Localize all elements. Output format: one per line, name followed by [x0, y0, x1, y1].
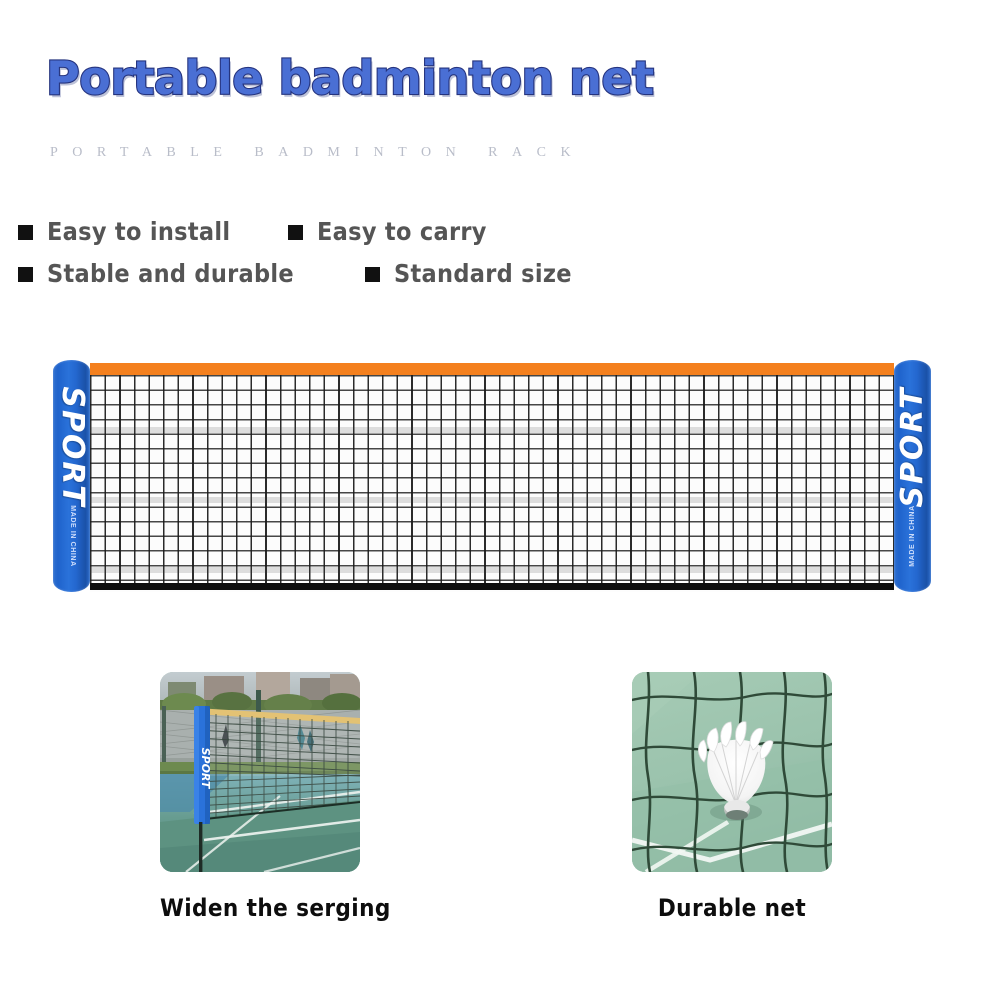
square-bullet-icon: [18, 225, 33, 240]
net-post-origin-label: MADE IN CHINA: [68, 505, 76, 566]
feature-photo-cards: SPORT Widen the serging: [0, 672, 1001, 952]
feature-label: Easy to carry: [317, 218, 487, 246]
photo-card-caption: Widen the serging: [160, 894, 360, 922]
badminton-net-illustration: SPORT MADE IN CHINA SPORT MADE IN CHINA: [53, 360, 931, 592]
outdoor-court-net-photo: SPORT: [160, 672, 360, 872]
feature-item-easy-to-carry: Easy to carry: [288, 218, 487, 246]
feature-label: Easy to install: [47, 218, 230, 246]
net-post-brand-label: SPORT: [898, 386, 928, 507]
photo-card-widen-the-serging: SPORT Widen the serging: [160, 672, 360, 922]
durable-net-shuttlecock-photo: [632, 672, 832, 872]
photo-card-caption: Durable net: [632, 894, 832, 922]
net-post-brand-label: SPORT: [57, 386, 87, 507]
square-bullet-icon: [365, 267, 380, 282]
square-bullet-icon: [18, 267, 33, 282]
net-bottom-band: [90, 583, 894, 590]
svg-text:SPORT: SPORT: [199, 748, 212, 790]
feature-item-easy-to-install: Easy to install: [18, 218, 230, 246]
photo-card-durable-net: Durable net: [632, 672, 832, 922]
feature-item-stable-and-durable: Stable and durable: [18, 260, 294, 288]
page-title: Portable badminton net: [46, 52, 654, 104]
net-post-origin-label: MADE IN CHINA: [909, 505, 917, 566]
square-bullet-icon: [288, 225, 303, 240]
net-mesh: [90, 375, 894, 584]
feature-label: Stable and durable: [47, 260, 294, 288]
feature-list: Easy to install Easy to carry Stable and…: [0, 206, 1001, 302]
feature-label: Standard size: [394, 260, 572, 288]
net-top-band: [90, 363, 894, 375]
net-post-left: SPORT MADE IN CHINA: [53, 360, 90, 592]
feature-item-standard-size: Standard size: [365, 260, 572, 288]
net-post-right: SPORT MADE IN CHINA: [894, 360, 931, 592]
page-subtitle: PORTABLE BADMINTON RACK: [50, 144, 585, 162]
